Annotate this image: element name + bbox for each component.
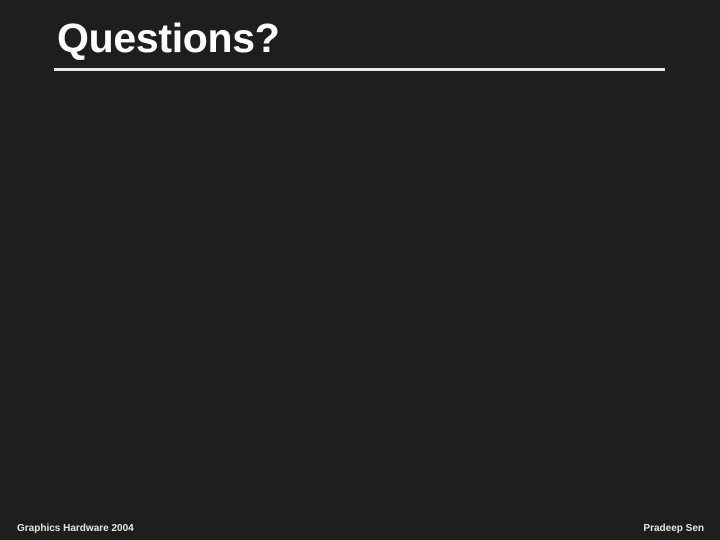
page-title: Questions? (57, 14, 280, 62)
presentation-slide: Questions? Graphics Hardware 2004 Pradee… (0, 0, 720, 540)
title-divider (54, 68, 665, 71)
slide-content-area (54, 90, 666, 502)
slide-title-block: Questions? (0, 0, 720, 78)
footer-author-label: Pradeep Sen (643, 523, 704, 535)
slide-footer: Graphics Hardware 2004 Pradeep Sen (0, 514, 720, 540)
footer-conference-label: Graphics Hardware 2004 (17, 523, 134, 535)
